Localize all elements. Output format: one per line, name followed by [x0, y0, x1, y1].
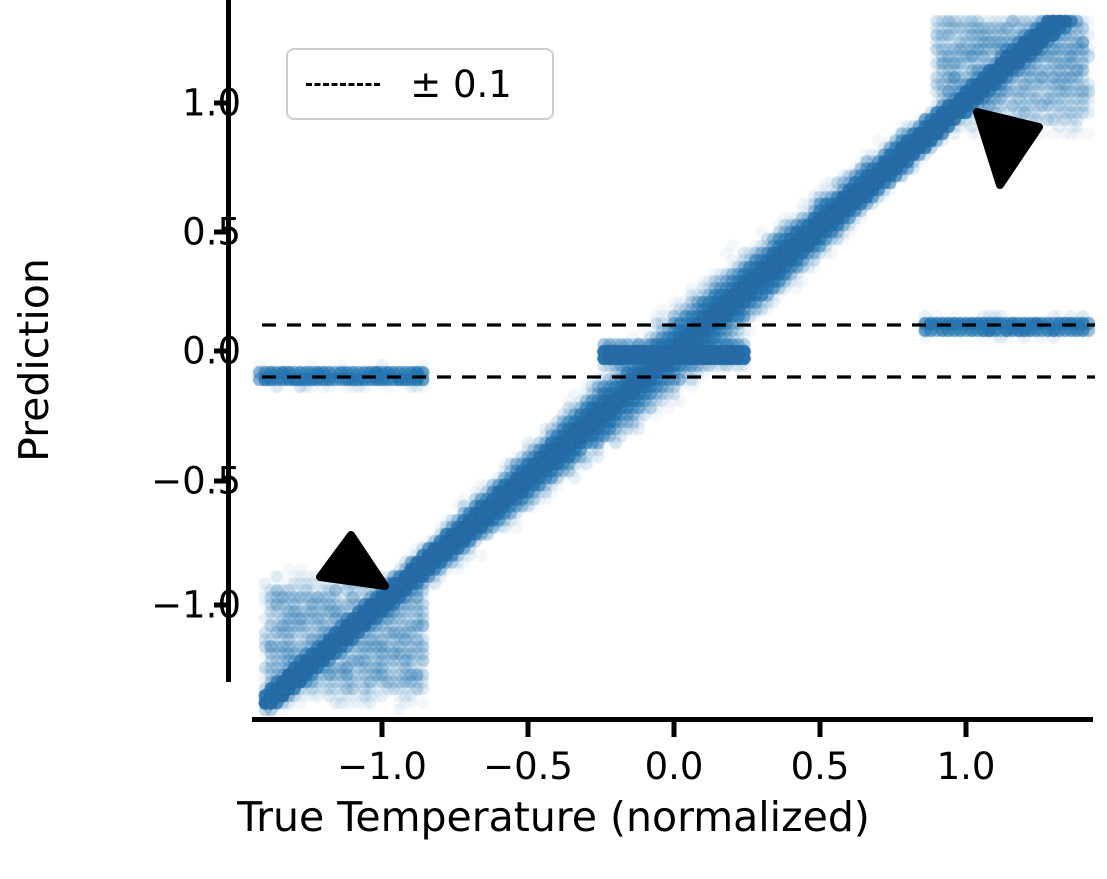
y-tick-label-1.0: 1.0	[182, 85, 241, 122]
y-tick-label-minus-0.5: −0.5	[151, 463, 241, 500]
x-tick-label-0.0: 0.0	[645, 748, 704, 785]
x-tick-marks	[382, 720, 966, 737]
x-tick-label-minus-0.5: −0.5	[483, 748, 573, 785]
legend-dashed-line-icon	[306, 83, 380, 86]
y-axis-label-container: Prediction	[8, 0, 60, 720]
arrow-upper-right-icon	[977, 112, 1039, 185]
legend: ± 0.1	[286, 48, 554, 120]
y-tick-label-0.0: 0.0	[182, 333, 241, 370]
legend-entry-label: ± 0.1	[380, 63, 552, 106]
y-tick-label-minus-1.0: −1.0	[151, 587, 241, 624]
x-tick-label-0.5: 0.5	[791, 748, 850, 785]
y-tick-label-0.5: 0.5	[182, 214, 241, 251]
arrow-lower-left-icon	[320, 535, 385, 586]
x-tick-label-minus-1.0: −1.0	[337, 748, 427, 785]
y-axis-label: Prediction	[10, 258, 58, 462]
scatter-plot-figure: 1.0 0.5 0.0 −0.5 −1.0 −1.0 −0.5 0.0 0.5 …	[0, 0, 1107, 879]
x-tick-label-1.0: 1.0	[937, 748, 996, 785]
x-axis-label: True Temperature (normalized)	[0, 793, 1107, 841]
